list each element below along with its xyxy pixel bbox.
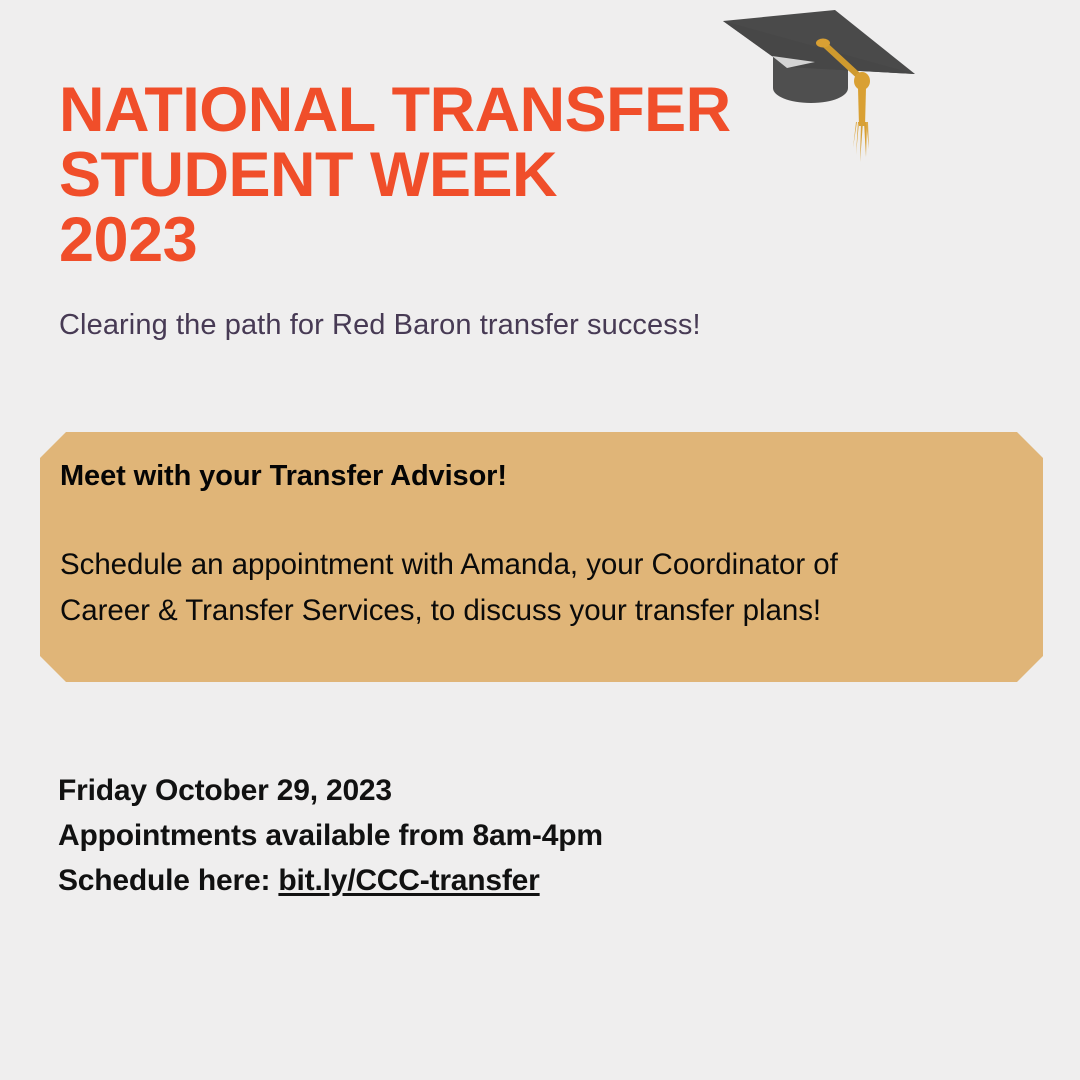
card-body-line-1: Schedule an appointment with Amanda, you…: [60, 542, 990, 588]
card-body-line-2: Career & Transfer Services, to discuss y…: [60, 588, 990, 634]
schedule-label: Schedule here:: [58, 864, 278, 897]
title-line-2: STUDENT WEEK: [59, 143, 859, 208]
page-subtitle: Clearing the path for Red Baron transfer…: [59, 306, 701, 344]
title-line-3: 2023: [59, 208, 859, 273]
event-schedule-line: Schedule here: bit.ly/CCC-transfer: [58, 858, 603, 903]
event-date: Friday October 29, 2023: [58, 768, 603, 813]
card-heading: Meet with your Transfer Advisor!: [60, 460, 507, 493]
event-details: Friday October 29, 2023 Appointments ava…: [58, 768, 603, 903]
page-title: NATIONAL TRANSFER STUDENT WEEK 2023: [59, 78, 859, 273]
event-hours: Appointments available from 8am-4pm: [58, 813, 603, 858]
card-body: Schedule an appointment with Amanda, you…: [60, 542, 990, 634]
schedule-link[interactable]: bit.ly/CCC-transfer: [278, 864, 539, 897]
poster-canvas: NATIONAL TRANSFER STUDENT WEEK 2023 Clea…: [0, 0, 1080, 1080]
title-line-1: NATIONAL TRANSFER: [59, 78, 859, 143]
advisor-callout-card: Meet with your Transfer Advisor! Schedul…: [40, 432, 1043, 682]
